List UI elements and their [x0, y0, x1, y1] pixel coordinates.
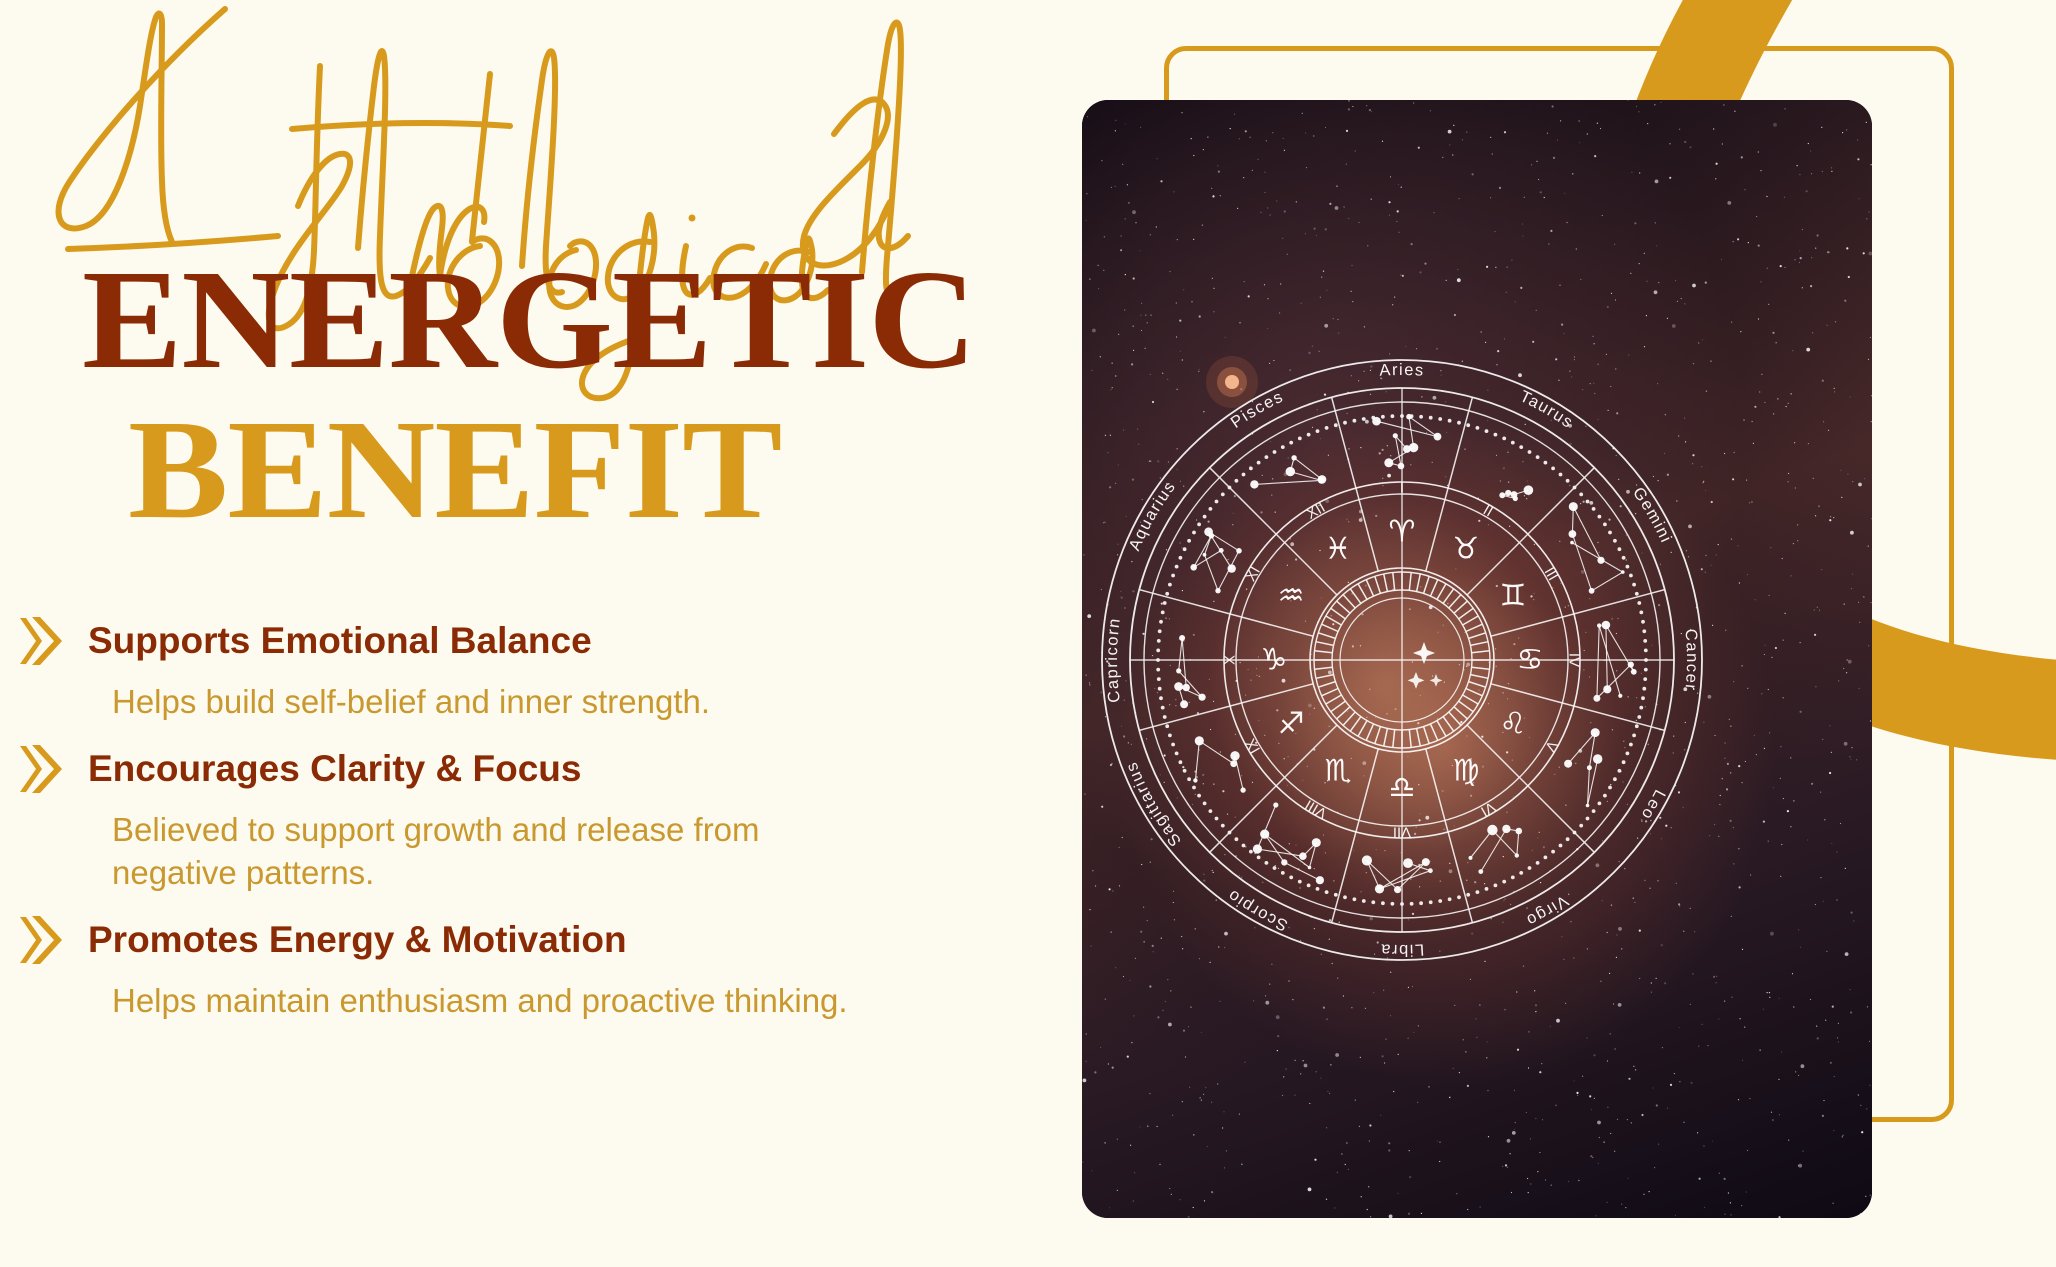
zodiac-name-cancer: Cancer — [1681, 628, 1701, 692]
benefit-description: Believed to support growth and release f… — [112, 808, 852, 895]
house-numeral-IV: IV — [1566, 653, 1583, 667]
zodiac-symbol-leo: ♌ — [1499, 707, 1526, 742]
benefit-item: Encourages Clarity & Focus Believed to s… — [16, 740, 896, 895]
constellation-capricorn — [1174, 635, 1206, 708]
benefit-head: Encourages Clarity & Focus — [16, 740, 896, 798]
headline-line1: ENERGETIC — [82, 248, 976, 390]
constellation-aries — [1372, 414, 1441, 469]
constellation-pisces — [1250, 455, 1326, 489]
benefit-title: Promotes Energy & Motivation — [88, 919, 627, 961]
house-numeral-I: I — [1400, 480, 1404, 497]
constellation-leo — [1564, 728, 1602, 807]
zodiac-symbol-virgo: ♍ — [1453, 753, 1480, 788]
double-chevron-right-icon — [16, 612, 72, 670]
zodiac-name-aries: Aries — [1379, 361, 1425, 380]
house-numeral-X: X — [1222, 655, 1239, 665]
benefit-title: Encourages Clarity & Focus — [88, 748, 581, 790]
zodiac-symbol-sagittarius: ♐ — [1278, 707, 1305, 742]
benefit-head: Supports Emotional Balance — [16, 612, 896, 670]
zodiac-symbol-scorpio: ♏ — [1325, 753, 1352, 788]
zodiac-name-virgo: Virgo — [1523, 891, 1572, 929]
house-numeral-VIII: VIII — [1302, 796, 1330, 822]
zodiac-name-libra: Libra — [1379, 940, 1424, 959]
benefit-title: Supports Emotional Balance — [88, 620, 592, 662]
benefit-item: Supports Emotional Balance Helps build s… — [16, 612, 896, 724]
script-headline — [10, 0, 970, 246]
benefit-item: Promotes Energy & Motivation Helps maint… — [16, 911, 896, 1023]
constellation-virgo — [1469, 825, 1523, 874]
constellation-aquarius — [1190, 527, 1241, 593]
zodiac-symbol-gemini: ♊ — [1499, 579, 1526, 614]
constellation-sagittarius — [1193, 736, 1246, 792]
benefit-list: Supports Emotional Balance Helps build s… — [16, 612, 896, 1038]
benefit-description: Helps build self-belief and inner streng… — [112, 680, 852, 724]
zodiac-symbol-capricorn: ♑ — [1261, 643, 1288, 678]
house-numeral-VI: VI — [1478, 798, 1499, 820]
double-chevron-right-icon — [16, 740, 72, 798]
house-numeral-IX: IX — [1242, 736, 1264, 757]
constellation-cancer — [1593, 621, 1636, 702]
left-content-column: ENERGETIC BENEFIT Supports Emotional Bal… — [0, 0, 1060, 1262]
zodiac-symbol-aquarius: ♒ — [1278, 579, 1305, 614]
zodiac-symbol-cancer: ♋ — [1517, 643, 1544, 678]
double-chevron-right-icon — [16, 911, 72, 969]
house-numeral-XI: XI — [1242, 564, 1264, 585]
constellation-libra — [1362, 855, 1433, 893]
benefit-description: Helps maintain enthusiasm and proactive … — [112, 979, 852, 1023]
zodiac-wheel-card: Aries I♈ Taurus II♉ Gemini III♊ Cancer I… — [1082, 100, 1872, 1218]
house-numeral-VII: VII — [1393, 824, 1411, 841]
benefit-head: Promotes Energy & Motivation — [16, 911, 896, 969]
house-numeral-II: II — [1480, 502, 1496, 521]
headline-line2: BENEFIT — [128, 398, 781, 540]
zodiac-name-capricorn: Capricorn — [1103, 616, 1124, 704]
constellation-taurus — [1499, 485, 1533, 501]
script-headline-art — [10, 0, 970, 246]
house-numeral-V: V — [1541, 737, 1561, 754]
house-numeral-III: III — [1541, 564, 1562, 583]
house-numeral-XII: XII — [1304, 499, 1328, 523]
zodiac-symbol-pisces: ♓ — [1325, 532, 1352, 567]
zodiac-symbol-libra: ♎ — [1389, 771, 1416, 806]
zodiac-wheel: Aries I♈ Taurus II♉ Gemini III♊ Cancer I… — [1082, 100, 1872, 1218]
zodiac-name-scorpio: Scorpio — [1224, 886, 1291, 935]
zodiac-symbol-aries: ♈ — [1389, 515, 1416, 550]
zodiac-symbol-taurus: ♉ — [1453, 532, 1480, 567]
